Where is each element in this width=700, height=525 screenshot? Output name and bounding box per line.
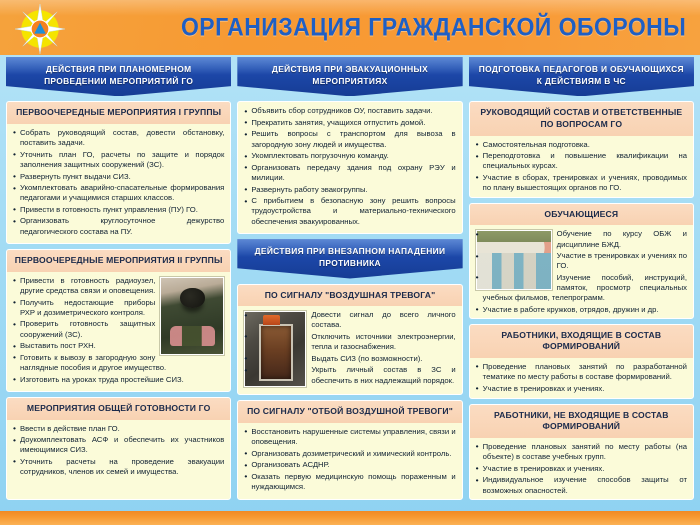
list-item: Проведение плановых занятий по месту раб…	[476, 442, 687, 463]
panel-workers-not-in-formations: РАБОТНИКИ, НЕ ВХОДЯЩИЕ В СОСТАВ ФОРМИРОВ…	[469, 404, 694, 500]
list-air-raid-alarm: Довести сигнал до всего личного состава.…	[244, 310, 455, 386]
list-item: Собрать руководящий состав, довести обст…	[13, 128, 224, 149]
list-item: Ввести в действие план ГО.	[13, 424, 224, 434]
footer-orange-strip	[0, 511, 700, 525]
list-item: Развернуть работу эвакогруппы.	[244, 185, 455, 195]
emercom-emblem-icon	[14, 3, 66, 55]
list-item: Организовать дозиметрический и химически…	[244, 449, 455, 459]
list-item: Обучение по курсу ОБЖ и дисциплине БЖД.	[476, 229, 687, 250]
list-item: Выставить пост РХН.	[13, 341, 224, 351]
subhead-all-clear-signal: ПО СИГНАЛУ "ОТБОЙ ВОЗДУШНОЙ ТРЕВОГИ"	[238, 401, 461, 423]
list-item: Восстановить нарушенные системы управлен…	[244, 427, 455, 448]
list-item: Укрыть личный состав в ЗС и обеспечить в…	[244, 365, 455, 386]
list-item: Готовить к вывозу в загородную зону нагл…	[13, 353, 224, 374]
list-item: Участие в сборах, тренировках и учениях,…	[476, 173, 687, 194]
list-management-staff: Самостоятельная подготовка. Переподготов…	[470, 136, 693, 194]
list-students: Обучение по курсу ОБЖ и дисциплине БЖД. …	[476, 229, 687, 315]
poster-header: ОРГАНИЗАЦИЯ ГРАЖДАНСКОЙ ОБОРОНЫ	[0, 0, 700, 55]
list-item: Организовать АСДНР.	[244, 460, 455, 470]
page-title: ОРГАНИЗАЦИЯ ГРАЖДАНСКОЙ ОБОРОНЫ	[137, 13, 686, 42]
list-item: Уточнить план ГО, расчеты по защите и по…	[13, 150, 224, 171]
subhead-priority-group-1: ПЕРВООЧЕРЕДНЫЕ МЕРОПРИЯТИЯ I ГРУППЫ	[7, 102, 230, 124]
banner-sudden-enemy-attack: ДЕЙСТВИЯ ПРИ ВНЕЗАПНОМ НАПАДЕНИИ ПРОТИВН…	[237, 239, 462, 278]
list-item: Привести в готовность радиоузел, другие …	[13, 276, 224, 297]
panel-management-staff: РУКОВОДЯЩИЙ СОСТАВ И ОТВЕТСТВЕННЫЕ ПО ВО…	[469, 101, 694, 197]
list-item: Переподготовка и повышение квалификации …	[476, 151, 687, 172]
list-item: Оказать первую медицинскую помощь пораже…	[244, 472, 455, 493]
list-item: Объявить сбор сотрудников ОУ, поставить …	[244, 106, 455, 116]
list-item: Прекратить занятия, учащихся отпустить д…	[244, 118, 455, 128]
list-item: Самостоятельная подготовка.	[476, 140, 687, 150]
list-all-clear-signal: Восстановить нарушенные системы управлен…	[238, 423, 461, 492]
panel-air-raid-alarm: ПО СИГНАЛУ "ВОЗДУШНАЯ ТРЕВОГА" Довести с…	[237, 284, 462, 396]
list-item: Изготовить на уроках труда простейшие СИ…	[13, 375, 224, 385]
list-priority-group-2: Привести в готовность радиоузел, другие …	[13, 276, 224, 385]
panel-priority-group-2: ПЕРВООЧЕРЕДНЫЕ МЕРОПРИЯТИЯ II ГРУППЫ При…	[6, 249, 231, 392]
banner-evacuation-measures: ДЕЙСТВИЯ ПРИ ЭВАКУАЦИОННЫХ МЕРОПРИЯТИЯХ	[237, 57, 462, 96]
photo-text-block-shelter: Довести сигнал до всего личного состава.…	[238, 306, 461, 389]
panel-all-clear-signal: ПО СИГНАЛУ "ОТБОЙ ВОЗДУШНОЙ ТРЕВОГИ" Вос…	[237, 400, 462, 500]
columns-container: ДЕЙСТВИЯ ПРИ ПЛАНОМЕРНОМ ПРОВЕДЕНИИ МЕРО…	[0, 57, 700, 500]
subhead-air-raid-alarm: ПО СИГНАЛУ "ВОЗДУШНАЯ ТРЕВОГА"	[238, 285, 461, 307]
banner-planned-go-measures: ДЕЙСТВИЯ ПРИ ПЛАНОМЕРНОМ ПРОВЕДЕНИИ МЕРО…	[6, 57, 231, 96]
subhead-management-staff: РУКОВОДЯЩИЙ СОСТАВ И ОТВЕТСТВЕННЫЕ ПО ВО…	[470, 102, 693, 135]
list-priority-group-1: Собрать руководящий состав, довести обст…	[7, 124, 230, 237]
list-item: Укомплектовать аварийно-спасательные фор…	[13, 183, 224, 204]
list-general-readiness: Ввести в действие план ГО. Доукомплектов…	[7, 420, 230, 478]
photo-text-block-students: Обучение по курсу ОБЖ и дисциплине БЖД. …	[470, 225, 693, 316]
panel-general-readiness: МЕРОПРИЯТИЯ ОБЩЕЙ ГОТОВНОСТИ ГО Ввести в…	[6, 397, 231, 500]
list-item: Укомплектовать погрузочную команду.	[244, 151, 455, 161]
column-training-teachers-students: ПОДГОТОВКА ПЕДАГОГОВ И ОБУЧАЮЩИХСЯ К ДЕЙ…	[469, 57, 694, 500]
subhead-priority-group-2: ПЕРВООЧЕРЕДНЫЕ МЕРОПРИЯТИЯ II ГРУППЫ	[7, 250, 230, 272]
subhead-general-readiness: МЕРОПРИЯТИЯ ОБЩЕЙ ГОТОВНОСТИ ГО	[7, 398, 230, 420]
panel-students: ОБУЧАЮЩИЕСЯ Обучение по курсу ОБЖ и дисц…	[469, 203, 694, 319]
list-item: Участие в тренировках и учениях.	[476, 464, 687, 474]
list-item: Отключить источники электроэнергии, тепл…	[244, 332, 455, 353]
list-item: Решить вопросы с транспортом для вывоза …	[244, 129, 455, 150]
list-item: Организовать круглосуточное дежурство пе…	[13, 216, 224, 237]
list-workers-in-formations: Проведение плановых занятий по разработа…	[470, 358, 693, 394]
list-item: Выдать СИЗ (по возможности).	[244, 354, 455, 364]
banner-training-for-emergencies: ПОДГОТОВКА ПЕДАГОГОВ И ОБУЧАЮЩИХСЯ К ДЕЙ…	[469, 57, 694, 96]
photo-text-block-gas-mask: Привести в готовность радиоузел, другие …	[7, 272, 230, 386]
list-item: Получить недостающие приборы РХР и дозим…	[13, 298, 224, 319]
list-workers-not-in-formations: Проведение плановых занятий по месту раб…	[470, 438, 693, 496]
list-item: Привести в готовность пункт управления (…	[13, 205, 224, 215]
panel-workers-in-formations: РАБОТНИКИ, ВХОДЯЩИЕ В СОСТАВ ФОРМИРОВАНИ…	[469, 324, 694, 399]
column-planned-go-measures: ДЕЙСТВИЯ ПРИ ПЛАНОМЕРНОМ ПРОВЕДЕНИИ МЕРО…	[6, 57, 231, 500]
list-item: Проверить готовность защитных сооружений…	[13, 319, 224, 340]
list-item: Участие в работе кружков, отрядов, дружи…	[476, 305, 687, 315]
subhead-workers-in-formations: РАБОТНИКИ, ВХОДЯЩИЕ В СОСТАВ ФОРМИРОВАНИ…	[470, 325, 693, 358]
list-item: С прибытием в безопасную зону решить воп…	[244, 196, 455, 227]
list-item: Уточнить расчеты на проведение эвакуации…	[13, 457, 224, 478]
list-item: Участие в тренировках и учениях.	[476, 384, 687, 394]
list-item: Изучение пособий, инструкций, памяток, п…	[476, 273, 687, 304]
list-item: Участие в тренировках и учениях по ГО.	[476, 251, 687, 272]
panel-evacuation-measures: Объявить сбор сотрудников ОУ, поставить …	[237, 101, 462, 234]
column-evacuation-and-attack: ДЕЙСТВИЯ ПРИ ЭВАКУАЦИОННЫХ МЕРОПРИЯТИЯХ …	[237, 57, 462, 500]
list-item: Довести сигнал до всего личного состава.	[244, 310, 455, 331]
list-item: Организовать передачу здания под охрану …	[244, 163, 455, 184]
list-item: Индивидуальное изучение способов защиты …	[476, 475, 687, 496]
list-item: Доукомплектовать АСФ и обеспечить их уча…	[13, 435, 224, 456]
list-item: Проведение плановых занятий по разработа…	[476, 362, 687, 383]
list-evacuation-measures: Объявить сбор сотрудников ОУ, поставить …	[238, 102, 461, 227]
subhead-students: ОБУЧАЮЩИЕСЯ	[470, 204, 693, 226]
poster-root: ОРГАНИЗАЦИЯ ГРАЖДАНСКОЙ ОБОРОНЫ ДЕЙСТВИЯ…	[0, 0, 700, 525]
panel-priority-group-1: ПЕРВООЧЕРЕДНЫЕ МЕРОПРИЯТИЯ I ГРУППЫ Собр…	[6, 101, 231, 244]
list-item: Развернуть пункт выдачи СИЗ.	[13, 172, 224, 182]
subhead-workers-not-in-formations: РАБОТНИКИ, НЕ ВХОДЯЩИЕ В СОСТАВ ФОРМИРОВ…	[470, 405, 693, 438]
